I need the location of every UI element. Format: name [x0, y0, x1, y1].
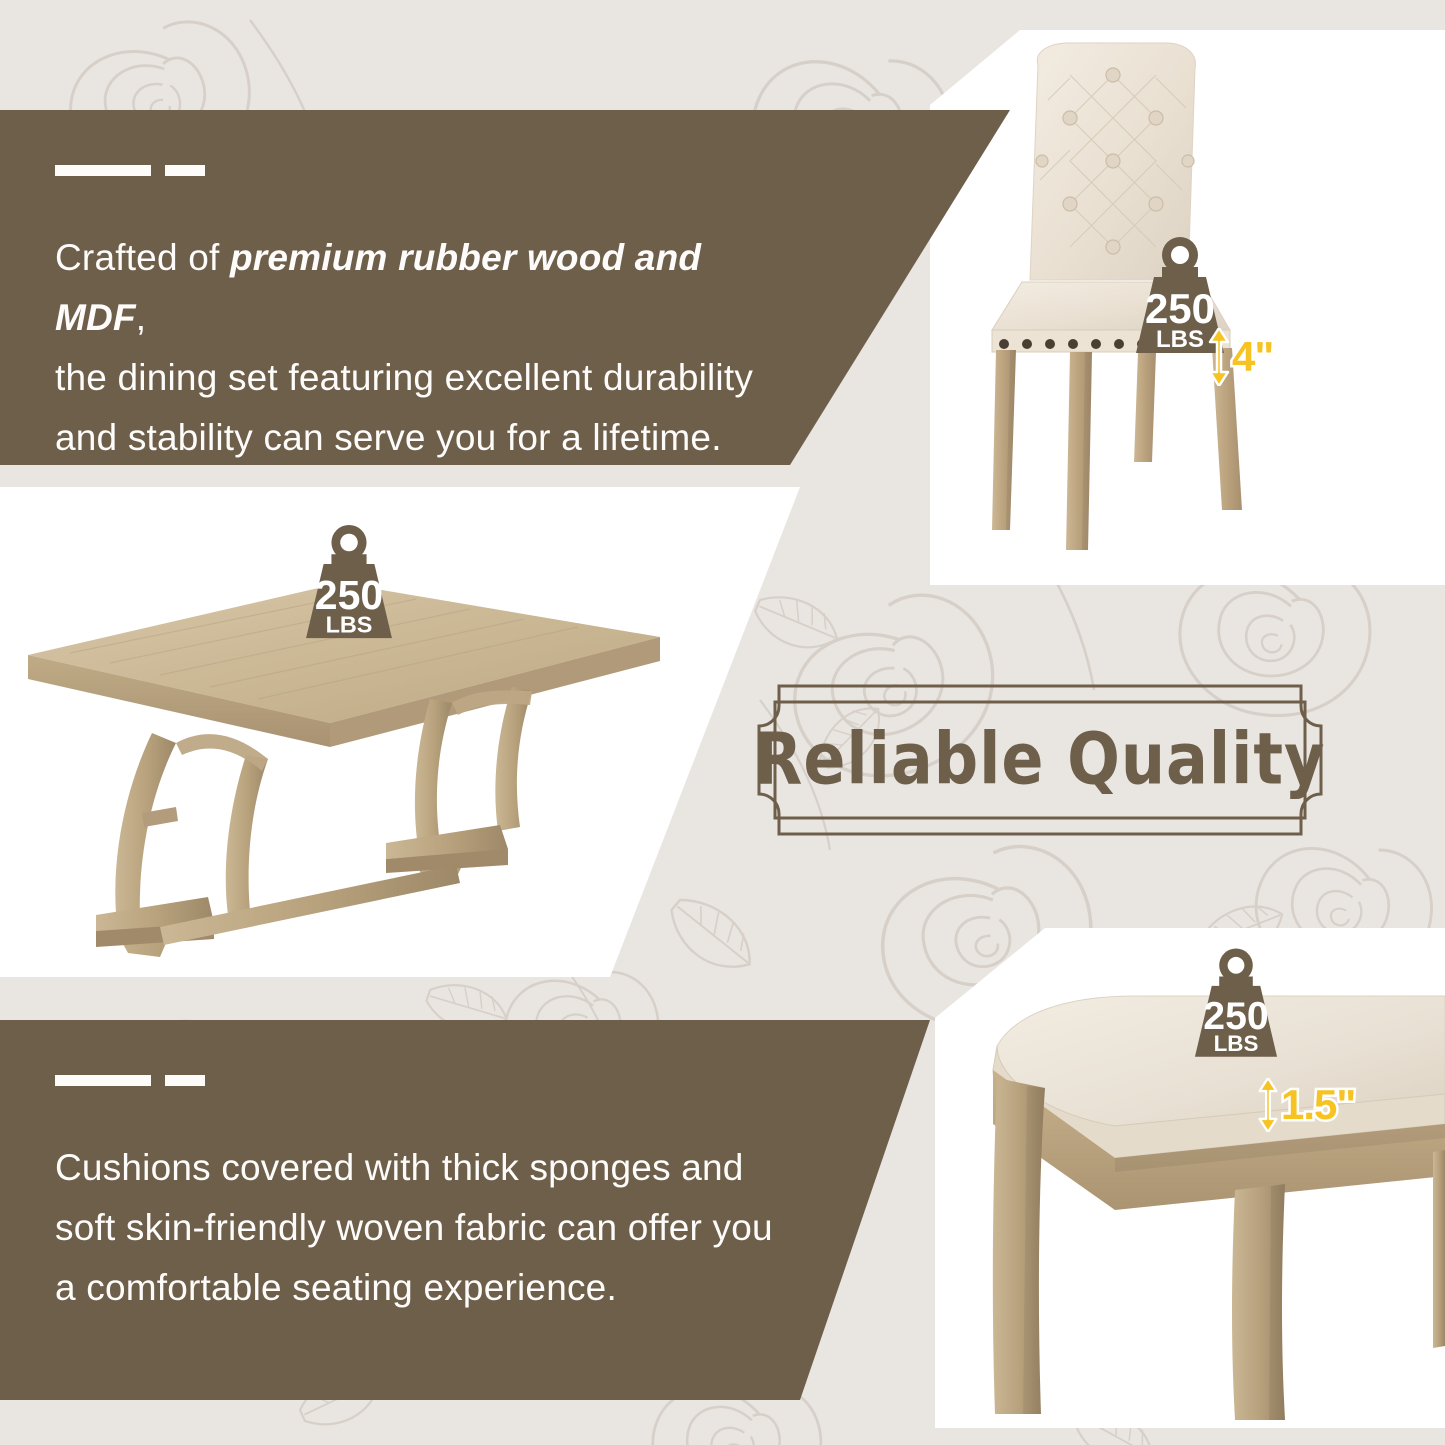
reliable-quality-plaque: Reliable Quality — [745, 680, 1335, 840]
copy-comma: , — [136, 297, 146, 338]
infographic-canvas: 250 LBS 4" Crafted of premium rubber woo… — [0, 0, 1445, 1445]
dash-long — [55, 1075, 151, 1086]
copy-line-1: Cushions covered with thick sponges and — [55, 1138, 815, 1198]
weight-unit: LBS — [326, 611, 373, 637]
dimension-value: 1.5" — [1281, 1081, 1355, 1129]
plaque-label: Reliable Quality — [754, 670, 1326, 849]
dash-short — [165, 165, 205, 176]
double-arrow-icon — [1208, 328, 1230, 386]
double-arrow-icon — [1257, 1078, 1279, 1132]
dimension-value: 4" — [1232, 333, 1273, 381]
dash-short — [165, 1075, 205, 1086]
copy-line-3: and stability can serve you for a lifeti… — [55, 408, 795, 468]
divider-dashes-top — [55, 165, 205, 176]
dimension-callout-chair: 4" — [1208, 328, 1273, 386]
dimension-callout-bench: 1.5" — [1257, 1078, 1355, 1132]
copy-line-2: the dining set featuring excellent durab… — [55, 348, 795, 408]
copy-line-2: soft skin-friendly woven fabric can offe… — [55, 1198, 815, 1258]
copy-lead: Crafted of — [55, 237, 230, 278]
weight-unit: LBS — [1214, 1031, 1259, 1056]
weight-unit: LBS — [1156, 326, 1204, 353]
feature-text-material: Crafted of premium rubber wood and MDF, … — [55, 228, 795, 468]
copy-line-3: a comfortable seating experience. — [55, 1258, 815, 1318]
weight-value: 250 — [1145, 285, 1215, 332]
feature-text-cushion: Cushions covered with thick sponges and … — [55, 1138, 815, 1318]
weight-badge-table-visual: 250 LBS — [290, 523, 408, 645]
weight-badge-bench: 250 LBS — [1180, 946, 1292, 1064]
dash-long — [55, 165, 151, 176]
bench-photo-panel: 250 LBS 1.5" — [935, 928, 1445, 1428]
divider-dashes-bottom — [55, 1075, 205, 1086]
